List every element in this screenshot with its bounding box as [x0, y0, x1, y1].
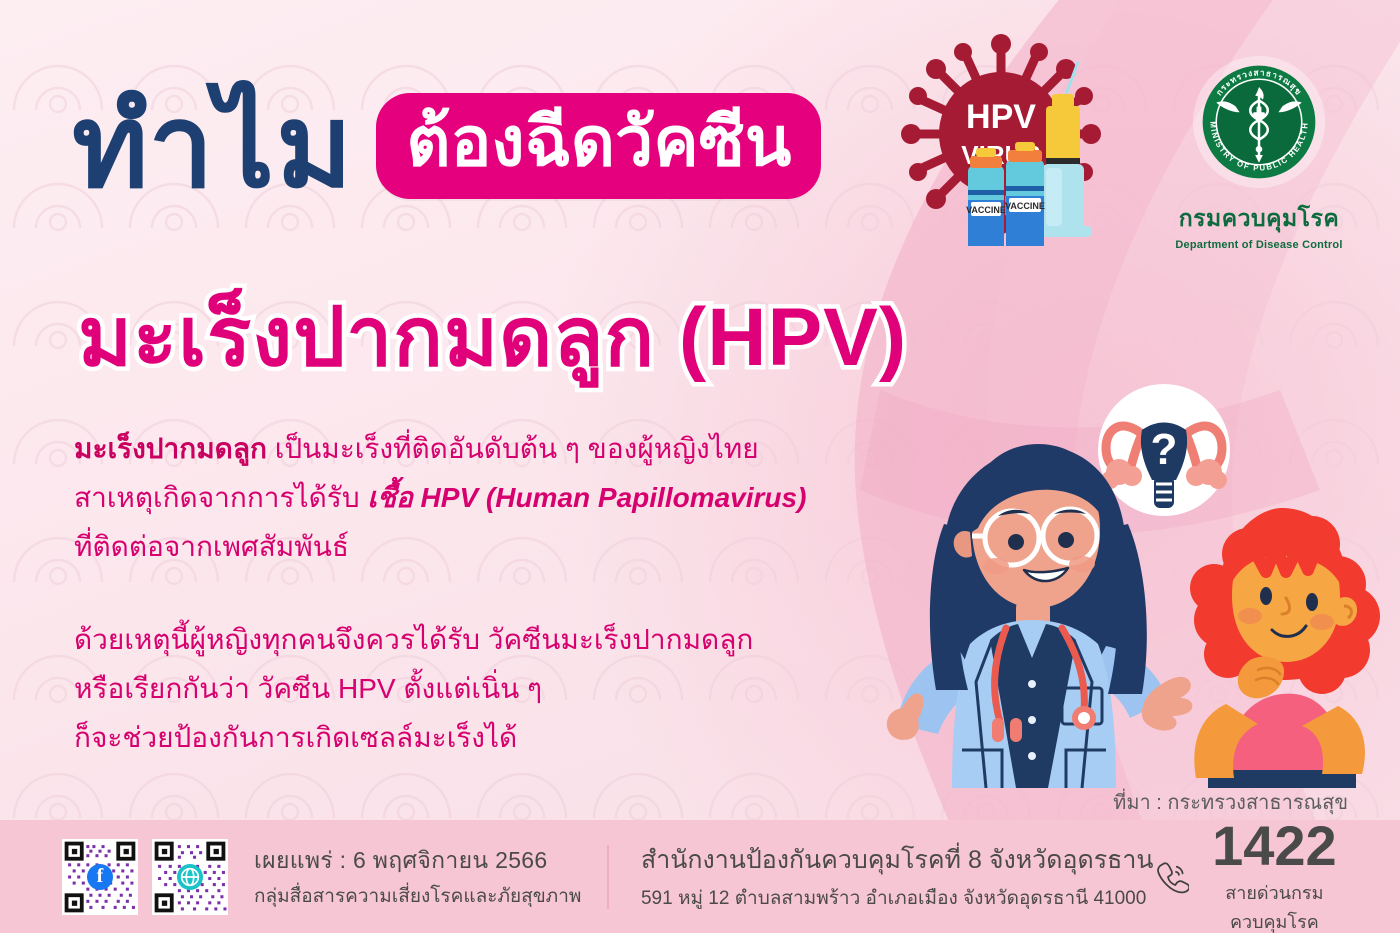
caduceus-seal-icon: กระทรวงสาธารณสุข MINISTRY OF PUBLIC HEAL… [1191, 54, 1327, 190]
logo-name-th: กรมควบคุมโรค [1166, 201, 1352, 237]
syringe-and-vials-icon: VACCINE VACCINE [960, 60, 1110, 250]
vial-label-2: VACCINE [1005, 201, 1045, 211]
facebook-icon: f [87, 864, 113, 890]
paragraph-1-line-3: ที่ติดต่อจากเพศสัมพันธ์ [74, 522, 914, 571]
footer-bar: f [0, 820, 1400, 933]
p1l1-rest: เป็นมะเร็งที่ติดอันดับต้น ๆ ของผู้หญิงไท… [267, 433, 759, 464]
title-why: ทำไม [72, 88, 354, 204]
hotline-number: 1422 [1212, 818, 1337, 874]
body-copy: มะเร็งปากมดลูก เป็นมะเร็งที่ติดอันดับต้น… [74, 424, 914, 762]
thinking-woman-illustration [1162, 492, 1394, 788]
publish-info: เผยแพร่ : 6 พฤศจิกายน 2566 กลุ่มสื่อสารค… [254, 843, 581, 911]
publish-date: เผยแพร่ : 6 พฤศจิกายน 2566 [254, 843, 581, 879]
logo-name-en: Department of Disease Control [1166, 239, 1352, 251]
p1l2-plain: สาเหตุเกิดจากการได้รับ [74, 482, 367, 513]
ministry-logo: กระทรวงสาธารณสุข MINISTRY OF PUBLIC HEAL… [1166, 54, 1352, 251]
qr-code-group: f [62, 839, 228, 915]
hotline-label: สายด่วนกรมควบคุมโรค [1203, 878, 1346, 933]
publish-department: กลุ่มสื่อสารความเสี่ยงโรคและภัยสุขภาพ [254, 881, 581, 911]
hotline-block[interactable]: 1422 สายด่วนกรมควบคุมโรค [1154, 818, 1346, 933]
paragraph-2-line-1: ด้วยเหตุนี้ผู้หญิงทุกคนจึงควรได้รับ วัคซ… [74, 615, 914, 664]
office-address: 591 หมู่ 12 ตำบลสามพร้าว อำเภอเมือง จังห… [641, 883, 1154, 913]
footer-divider [607, 845, 609, 909]
page-title: มะเร็งปากมดลูก (HPV) [78, 272, 907, 402]
paragraph-1-line-1: มะเร็งปากมดลูก เป็นมะเร็งที่ติดอันดับต้น… [74, 424, 914, 473]
phone-icon [1154, 854, 1189, 900]
vial-label-1: VACCINE [966, 205, 1006, 215]
paragraph-1: มะเร็งปากมดลูก เป็นมะเร็งที่ติดอันดับต้น… [74, 424, 914, 571]
title-badge-vaccinate: ต้องฉีดวัคซีน [376, 93, 821, 199]
doctor-character-illustration [866, 432, 1196, 788]
paragraph-2-line-3: ก็จะช่วยป้องกันการเกิดเซลล์มะเร็งได้ [74, 713, 914, 762]
office-info: สำนักงานป้องกันควบคุมโรคที่ 8 จังหวัดอุด… [641, 840, 1154, 913]
qr-code-website[interactable] [152, 839, 228, 915]
title-row: ทำไม ต้องฉีดวัคซีน [72, 88, 821, 204]
poster-canvas: ทำไม ต้องฉีดวัคซีน มะเร็งปากมดลูก (HPV) [0, 0, 1400, 933]
qr-code-facebook[interactable]: f [62, 839, 138, 915]
kw-hpv-virus: เชื้อ HPV (Human Papillomavirus) [367, 482, 806, 513]
paragraph-2: ด้วยเหตุนี้ผู้หญิงทุกคนจึงควรได้รับ วัคซ… [74, 615, 914, 762]
kw-cervical-cancer: มะเร็งปากมดลูก [74, 433, 267, 464]
paragraph-1-line-2: สาเหตุเกิดจากการได้รับ เชื้อ HPV (Human … [74, 473, 914, 522]
hotline-text: 1422 สายด่วนกรมควบคุมโรค [1203, 818, 1346, 933]
globe-icon [177, 864, 203, 890]
office-name: สำนักงานป้องกันควบคุมโรคที่ 8 จังหวัดอุด… [641, 840, 1154, 880]
paragraph-spacer [74, 571, 914, 615]
paragraph-2-line-2: หรือเรียกกันว่า วัคซีน HPV ตั้งแต่เนิ่น … [74, 664, 914, 713]
globe-glyph [180, 867, 200, 887]
